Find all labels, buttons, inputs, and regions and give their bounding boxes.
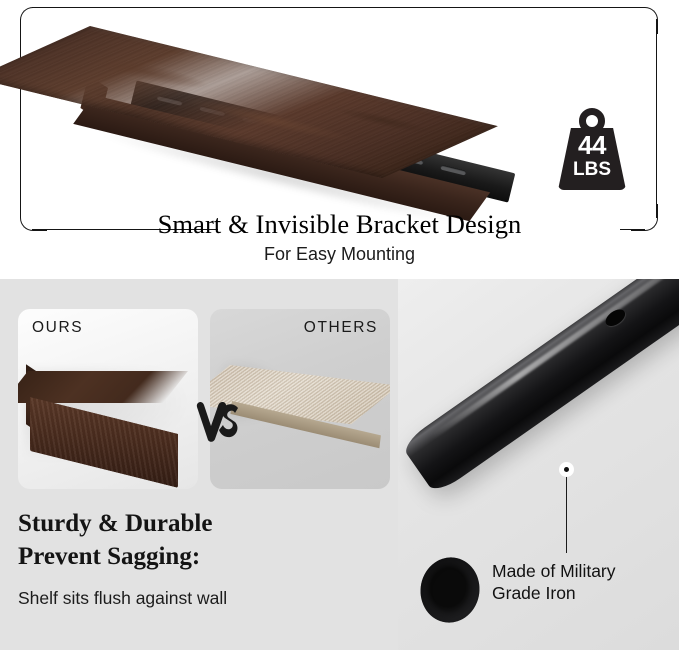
comparison-subtext: Shelf sits flush against wall [18, 588, 378, 609]
weight-badge-number: 44 [558, 132, 626, 158]
vs-mark-icon [194, 397, 240, 449]
weight-badge-unit: LBS [558, 160, 626, 179]
card-label-ours: OURS [32, 319, 83, 337]
card-label-others: OTHERS [304, 319, 378, 337]
comparison-cards: OURS OTHERS [18, 309, 390, 489]
top-headline: Smart & Invisible Bracket Design [0, 209, 679, 240]
weight-capacity-badge: 44 LBS [558, 108, 626, 190]
weight-badge-text: 44 LBS [558, 132, 626, 179]
floating-shelf-photo [78, 18, 533, 213]
comparison-panel: OURS OTHERS Sturdy & Durable Prevent Sag… [0, 279, 679, 650]
iron-tube-open-end [409, 544, 492, 636]
frame-line-right [656, 19, 657, 218]
top-subtitle: For Easy Mounting [0, 244, 679, 265]
callout-text: Made of Military Grade Iron [492, 560, 679, 604]
frame-line-left [20, 19, 21, 218]
comparison-heading-line2: Prevent Sagging: [18, 540, 368, 573]
iron-tube-highlight [430, 279, 679, 440]
frame-line-top [32, 7, 645, 8]
callout-text-line1: Made of Military [492, 560, 679, 582]
top-feature-panel: 44 LBS Smart & Invisible Bracket Design … [0, 0, 679, 279]
ours-shelf-top-surface [18, 371, 188, 403]
comparison-heading: Sturdy & Durable Prevent Sagging: [18, 507, 368, 573]
frame-corner-top-left [20, 7, 47, 34]
iron-tube-body [400, 279, 679, 495]
callout-text-line2: Grade Iron [492, 582, 679, 604]
comparison-card-ours: OURS [18, 309, 198, 489]
frame-corner-top-right [631, 7, 658, 34]
product-feature-image: 44 LBS Smart & Invisible Bracket Design … [0, 0, 679, 650]
comparison-heading-line1: Sturdy & Durable [18, 507, 368, 540]
bracket-slot [440, 165, 466, 176]
callout-dot-icon [559, 462, 574, 477]
iron-tube-photo: Made of Military Grade Iron [398, 279, 679, 650]
callout-leader-line [566, 476, 567, 553]
